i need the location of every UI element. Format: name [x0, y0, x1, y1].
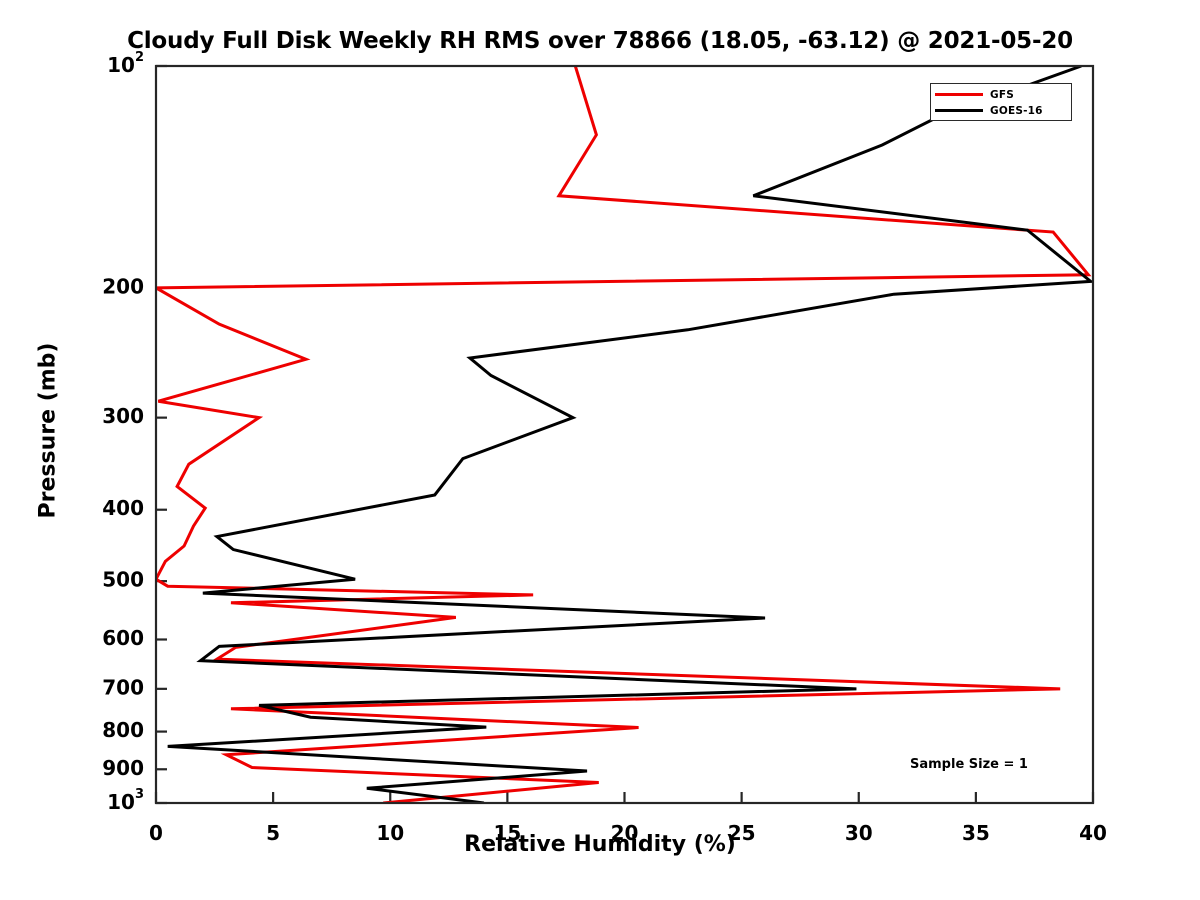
legend-swatch-goes16	[935, 109, 983, 112]
data-series-group	[156, 66, 1091, 803]
y-tick-label: 600	[102, 626, 144, 650]
legend: GFS GOES-16	[930, 83, 1072, 121]
legend-item-gfs: GFS	[935, 86, 1069, 103]
legend-label-goes16: GOES-16	[990, 105, 1043, 117]
legend-item-goes16: GOES-16	[935, 102, 1069, 119]
y-tick-label: 103	[107, 787, 144, 814]
x-axis-label: Relative Humidity (%)	[0, 832, 1200, 857]
legend-label-gfs: GFS	[990, 89, 1014, 101]
y-tick-label: 700	[102, 675, 144, 699]
y-tick-label: 200	[102, 274, 144, 298]
legend-swatch-gfs	[935, 93, 983, 96]
series-line-gfs	[156, 66, 1088, 803]
y-tick-label: 800	[102, 718, 144, 742]
y-tick-label: 300	[102, 404, 144, 428]
y-tick-label: 102	[107, 50, 144, 77]
y-tick-label: 500	[102, 568, 144, 592]
y-tick-label: 900	[102, 756, 144, 780]
y-tick-label: 400	[102, 496, 144, 520]
sample-size-annotation: Sample Size = 1	[910, 757, 1028, 772]
chart-figure: Cloudy Full Disk Weekly RH RMS over 7886…	[0, 0, 1200, 900]
y-axis-label: Pressure (mb)	[36, 321, 61, 541]
